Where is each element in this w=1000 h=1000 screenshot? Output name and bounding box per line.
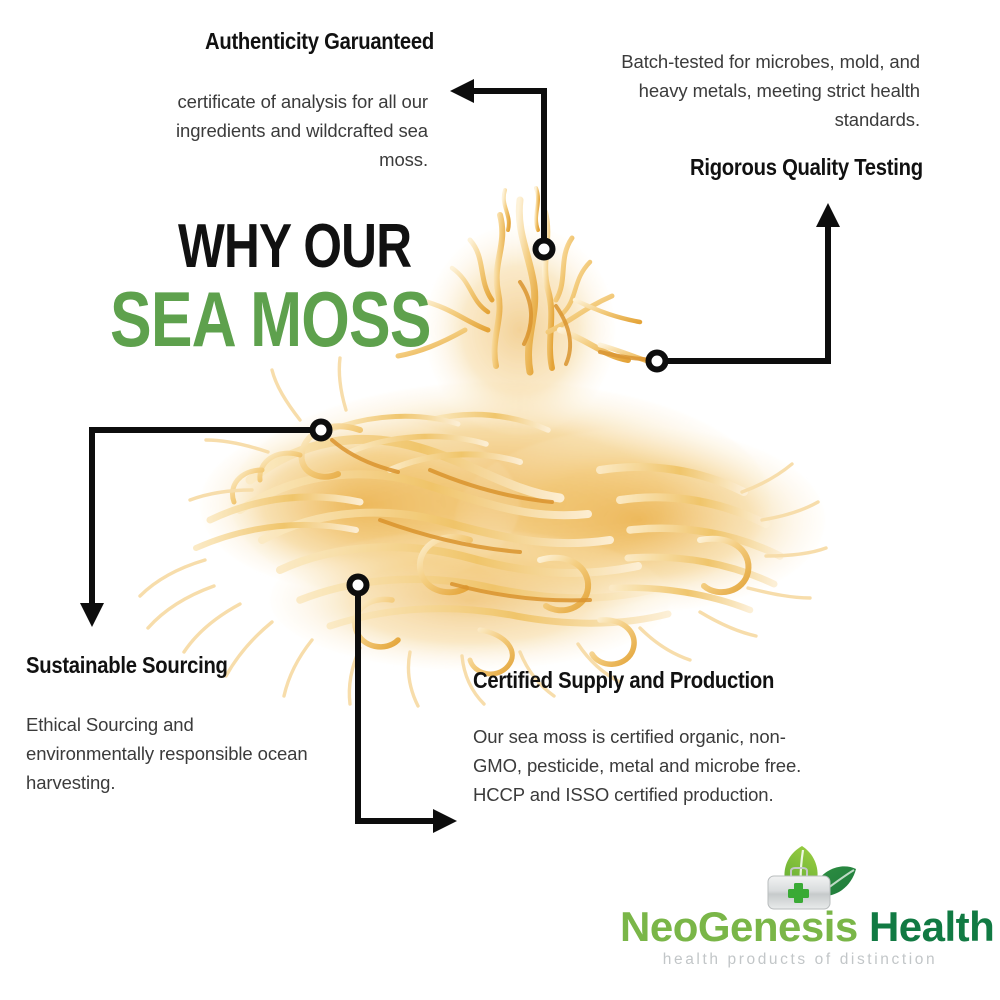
page-title-line2: SEA MOSS	[110, 284, 431, 356]
logo-wordmark: NeoGenesis Health	[620, 903, 980, 951]
logo-name-part2: Health	[869, 903, 994, 950]
infographic-canvas: WHY OUR SEA MOSS Authenticity Garuanteed…	[0, 0, 1000, 1000]
body-authenticity: certificate of analysis for all our ingr…	[128, 88, 428, 175]
body-certified-supply: Our sea moss is certified organic, non-G…	[473, 723, 828, 810]
connector-sustainable-sourcing	[80, 422, 330, 628]
body-quality-testing: Batch-tested for microbes, mold, and hea…	[600, 48, 920, 135]
body-sustainable-sourcing: Ethical Sourcing and environmentally res…	[26, 711, 311, 798]
connector-quality-testing	[649, 203, 841, 370]
heading-authenticity: Authenticity Garuanteed	[205, 29, 434, 54]
heading-quality-testing: Rigorous Quality Testing	[690, 155, 923, 180]
heading-sustainable-sourcing: Sustainable Sourcing	[26, 653, 228, 678]
heading-certified-supply: Certified Supply and Production	[473, 668, 774, 693]
logo-tagline: health products of distinction	[620, 951, 980, 969]
connector-authenticity	[450, 79, 553, 258]
connector-certified-supply	[350, 577, 458, 834]
brand-logo[interactable]: NeoGenesis Health health products of dis…	[620, 843, 980, 988]
page-title-line1: WHY OUR	[178, 218, 411, 275]
logo-name-part1: NeoGenesis	[620, 903, 858, 950]
